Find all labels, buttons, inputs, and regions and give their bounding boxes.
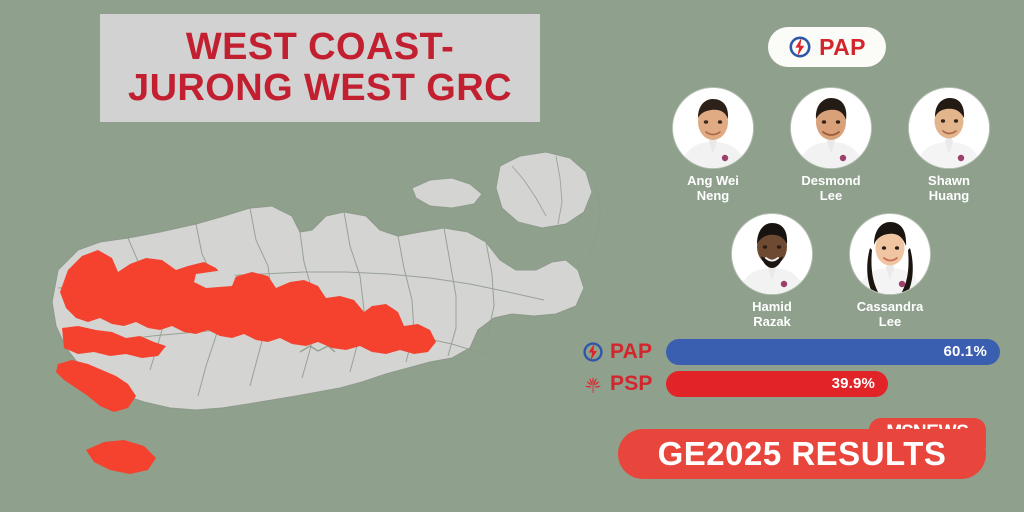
pap-bolt-icon [580,339,606,365]
candidate-name: Cassandra Lee [857,300,923,330]
candidate-name: Desmond Lee [801,174,860,204]
result-party-label: PSP [606,372,666,396]
psp-tree-icon [580,371,606,397]
candidate-row-1: Ang Wei Neng Desmond [648,88,1014,204]
candidate-card[interactable]: Shawn Huang [901,88,997,204]
candidate-name: Hamid Razak [752,300,792,330]
result-percent: 60.1% [943,343,1000,360]
party-badge: PAP [768,27,886,67]
result-row-psp: PSP 39.9% [580,370,1000,397]
constituency-title-box: WEST COAST- JURONG WEST GRC [100,14,540,122]
avatar [732,214,812,294]
infographic-root: WEST COAST- JURONG WEST GRC [0,0,1024,512]
result-bar-pap: 60.1% [666,339,1000,365]
result-bar-psp: 39.9% [666,371,888,397]
avatar [909,88,989,168]
avatar [850,214,930,294]
result-row-pap: PAP 60.1% [580,338,1000,365]
candidate-name: Ang Wei Neng [687,174,739,204]
results-chart: PAP 60.1% [580,338,1000,397]
result-party-label: PAP [606,340,666,364]
page-title: WEST COAST- JURONG WEST GRC [118,27,522,108]
candidate-card[interactable]: Cassandra Lee [842,214,938,330]
result-track: 60.1% [666,339,1000,365]
banner-text: GE2025 RESULTS [658,435,947,473]
result-percent: 39.9% [832,375,889,392]
pap-bolt-icon [788,35,812,59]
avatar [673,88,753,168]
candidate-card[interactable]: Hamid Razak [724,214,820,330]
party-badge-label: PAP [819,34,866,61]
avatar [791,88,871,168]
results-banner: GE2025 RESULTS [618,429,986,479]
candidate-name: Shawn Huang [928,174,970,204]
candidate-card[interactable]: Ang Wei Neng [665,88,761,204]
singapore-map [0,120,620,512]
candidate-row-2: Hamid Razak [648,214,1014,330]
candidate-grid: Ang Wei Neng Desmond [648,88,1014,330]
result-track: 39.9% [666,371,1000,397]
candidate-card[interactable]: Desmond Lee [783,88,879,204]
